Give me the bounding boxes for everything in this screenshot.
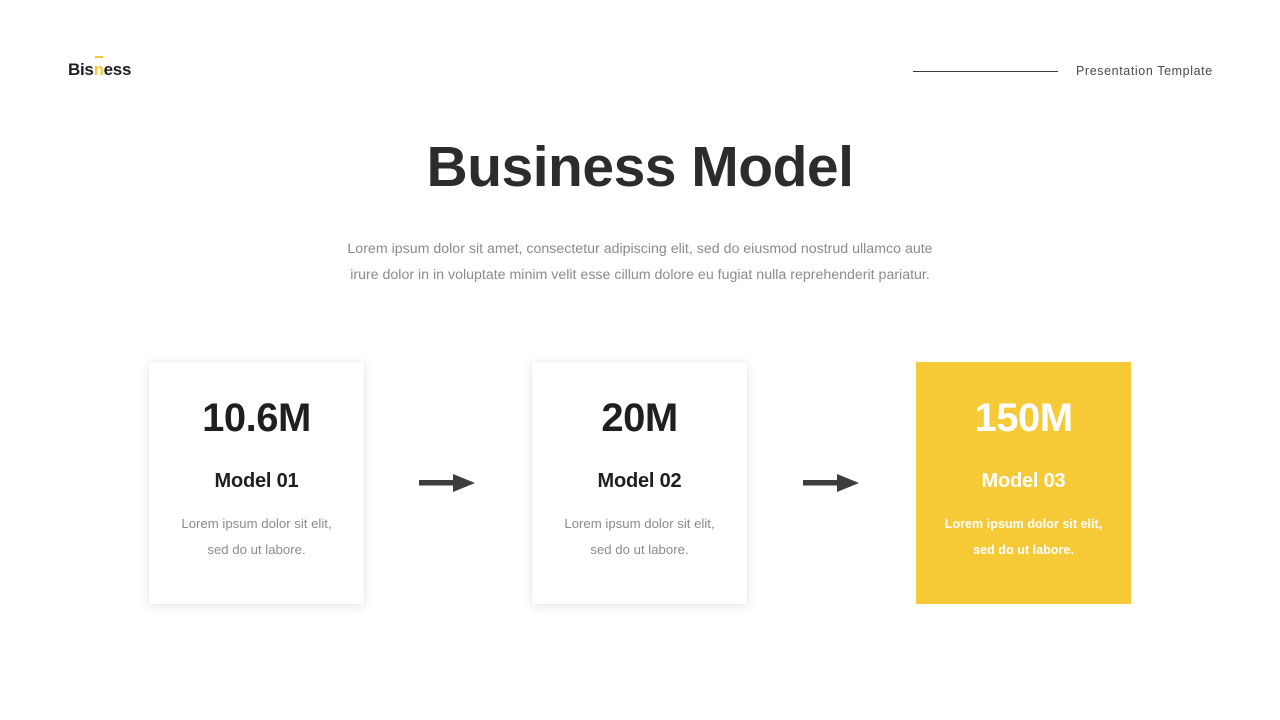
brand-logo-accent-letter: n: [94, 60, 104, 79]
model-card-01[interactable]: 10.6M Model 01 Lorem ipsum dolor sit eli…: [149, 362, 364, 604]
arrow-right-icon: [419, 470, 475, 496]
card-value: 20M: [601, 398, 677, 438]
card-title: Model 01: [215, 470, 299, 493]
brand-logo[interactable]: Bisness: [68, 60, 131, 80]
model-cards-row: 10.6M Model 01 Lorem ipsum dolor sit eli…: [0, 362, 1280, 604]
card-title: Model 02: [598, 470, 682, 493]
card-description: Lorem ipsum dolor sit elit, sed do ut la…: [169, 511, 344, 563]
model-card-02[interactable]: 20M Model 02 Lorem ipsum dolor sit elit,…: [532, 362, 747, 604]
brand-logo-suffix: ess: [104, 60, 131, 79]
model-card-03[interactable]: 150M Model 03 Lorem ipsum dolor sit elit…: [916, 362, 1131, 604]
card-value: 150M: [974, 398, 1072, 438]
card-description: Lorem ipsum dolor sit elit, sed do ut la…: [936, 511, 1111, 563]
page-subtitle: Lorem ipsum dolor sit amet, consectetur …: [340, 236, 940, 288]
card-description: Lorem ipsum dolor sit elit, sed do ut la…: [552, 511, 727, 563]
page-title: Business Model: [0, 134, 1280, 200]
header-label: Presentation Template: [1076, 64, 1213, 78]
header-divider-line: [913, 71, 1058, 72]
card-value: 10.6M: [202, 398, 311, 438]
arrow-right-icon: [803, 470, 859, 496]
brand-logo-prefix: Bis: [68, 60, 94, 79]
slide-canvas: Bisness Presentation Template Business M…: [0, 0, 1280, 720]
card-title: Model 03: [982, 470, 1066, 493]
